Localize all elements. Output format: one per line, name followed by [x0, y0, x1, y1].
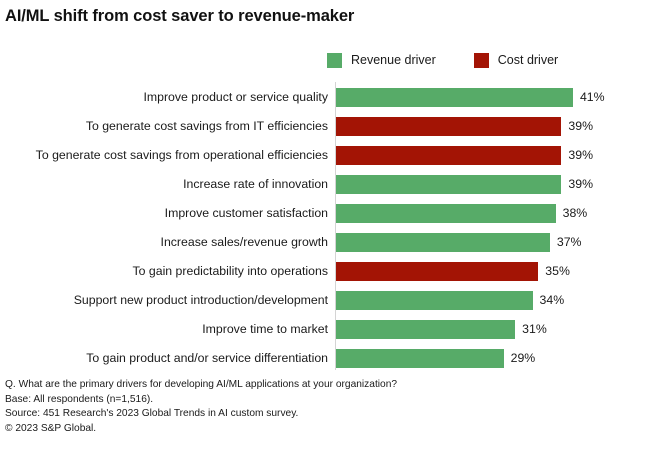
legend-swatch-icon	[474, 53, 489, 68]
legend-swatch-icon	[327, 53, 342, 68]
bar-value-label: 29%	[511, 349, 536, 368]
footnote-source: Source: 451 Research's 2023 Global Trend…	[5, 407, 397, 422]
bar-revenue[interactable]	[336, 349, 504, 368]
bar-revenue[interactable]	[336, 233, 550, 252]
bar-row: Increase sales/revenue growth37%	[0, 228, 660, 257]
bar-value-label: 34%	[540, 291, 565, 310]
bar-revenue[interactable]	[336, 88, 573, 107]
bar-category-label: Increase rate of innovation	[183, 170, 328, 199]
legend-item-label: Cost driver	[498, 53, 558, 67]
bar-track: 37%	[336, 228, 581, 257]
bar-category-label: To gain product and/or service different…	[86, 344, 328, 373]
footnote-base: Base: All respondents (n=1,516).	[5, 393, 397, 408]
bar-track: 34%	[336, 286, 564, 315]
legend-item[interactable]: Cost driver	[474, 53, 558, 68]
bar-row: Improve product or service quality41%	[0, 83, 660, 112]
bar-row: Improve time to market31%	[0, 315, 660, 344]
bar-row: Increase rate of innovation39%	[0, 170, 660, 199]
bar-category-label: Support new product introduction/develop…	[74, 286, 328, 315]
bar-track: 31%	[336, 315, 547, 344]
bar-track: 41%	[336, 83, 605, 112]
chart-footnotes: Q. What are the primary drivers for deve…	[5, 378, 397, 436]
bar-cost[interactable]	[336, 262, 538, 281]
bar-category-label: To gain predictability into operations	[132, 257, 328, 286]
bar-category-label: Improve product or service quality	[143, 83, 328, 112]
chart-plot-area: Improve product or service quality41%To …	[0, 80, 660, 372]
bar-revenue[interactable]	[336, 204, 556, 223]
bar-track: 39%	[336, 112, 593, 141]
bar-track: 35%	[336, 257, 570, 286]
bar-revenue[interactable]	[336, 291, 533, 310]
bar-value-label: 41%	[580, 88, 605, 107]
bar-value-label: 39%	[568, 117, 593, 136]
bar-category-label: To generate cost savings from IT efficie…	[86, 112, 328, 141]
bar-row: To generate cost savings from operationa…	[0, 141, 660, 170]
legend-item[interactable]: Revenue driver	[327, 53, 436, 68]
bar-track: 29%	[336, 344, 535, 373]
footnote-copyright: © 2023 S&P Global.	[5, 422, 397, 437]
bar-value-label: 39%	[568, 175, 593, 194]
bar-value-label: 39%	[568, 146, 593, 165]
bar-value-label: 38%	[563, 204, 588, 223]
footnote-question: Q. What are the primary drivers for deve…	[5, 378, 397, 393]
bar-value-label: 31%	[522, 320, 547, 339]
legend-item-label: Revenue driver	[351, 53, 436, 67]
bar-row: Support new product introduction/develop…	[0, 286, 660, 315]
bar-value-label: 37%	[557, 233, 582, 252]
chart-title: AI/ML shift from cost saver to revenue-m…	[5, 7, 354, 26]
bar-value-label: 35%	[545, 262, 570, 281]
bar-category-label: To generate cost savings from operationa…	[36, 141, 328, 170]
bar-category-label: Increase sales/revenue growth	[161, 228, 328, 257]
bar-category-label: Improve customer satisfaction	[165, 199, 328, 228]
bar-track: 39%	[336, 141, 593, 170]
chart-legend: Revenue driverCost driver	[327, 51, 558, 69]
bar-track: 39%	[336, 170, 593, 199]
bar-track: 38%	[336, 199, 587, 228]
bar-row: Improve customer satisfaction38%	[0, 199, 660, 228]
bar-cost[interactable]	[336, 117, 561, 136]
bar-revenue[interactable]	[336, 175, 561, 194]
bar-revenue[interactable]	[336, 320, 515, 339]
bar-cost[interactable]	[336, 146, 561, 165]
bar-row: To gain predictability into operations35…	[0, 257, 660, 286]
bar-row: To generate cost savings from IT efficie…	[0, 112, 660, 141]
bar-category-label: Improve time to market	[202, 315, 328, 344]
bar-row: To gain product and/or service different…	[0, 344, 660, 373]
